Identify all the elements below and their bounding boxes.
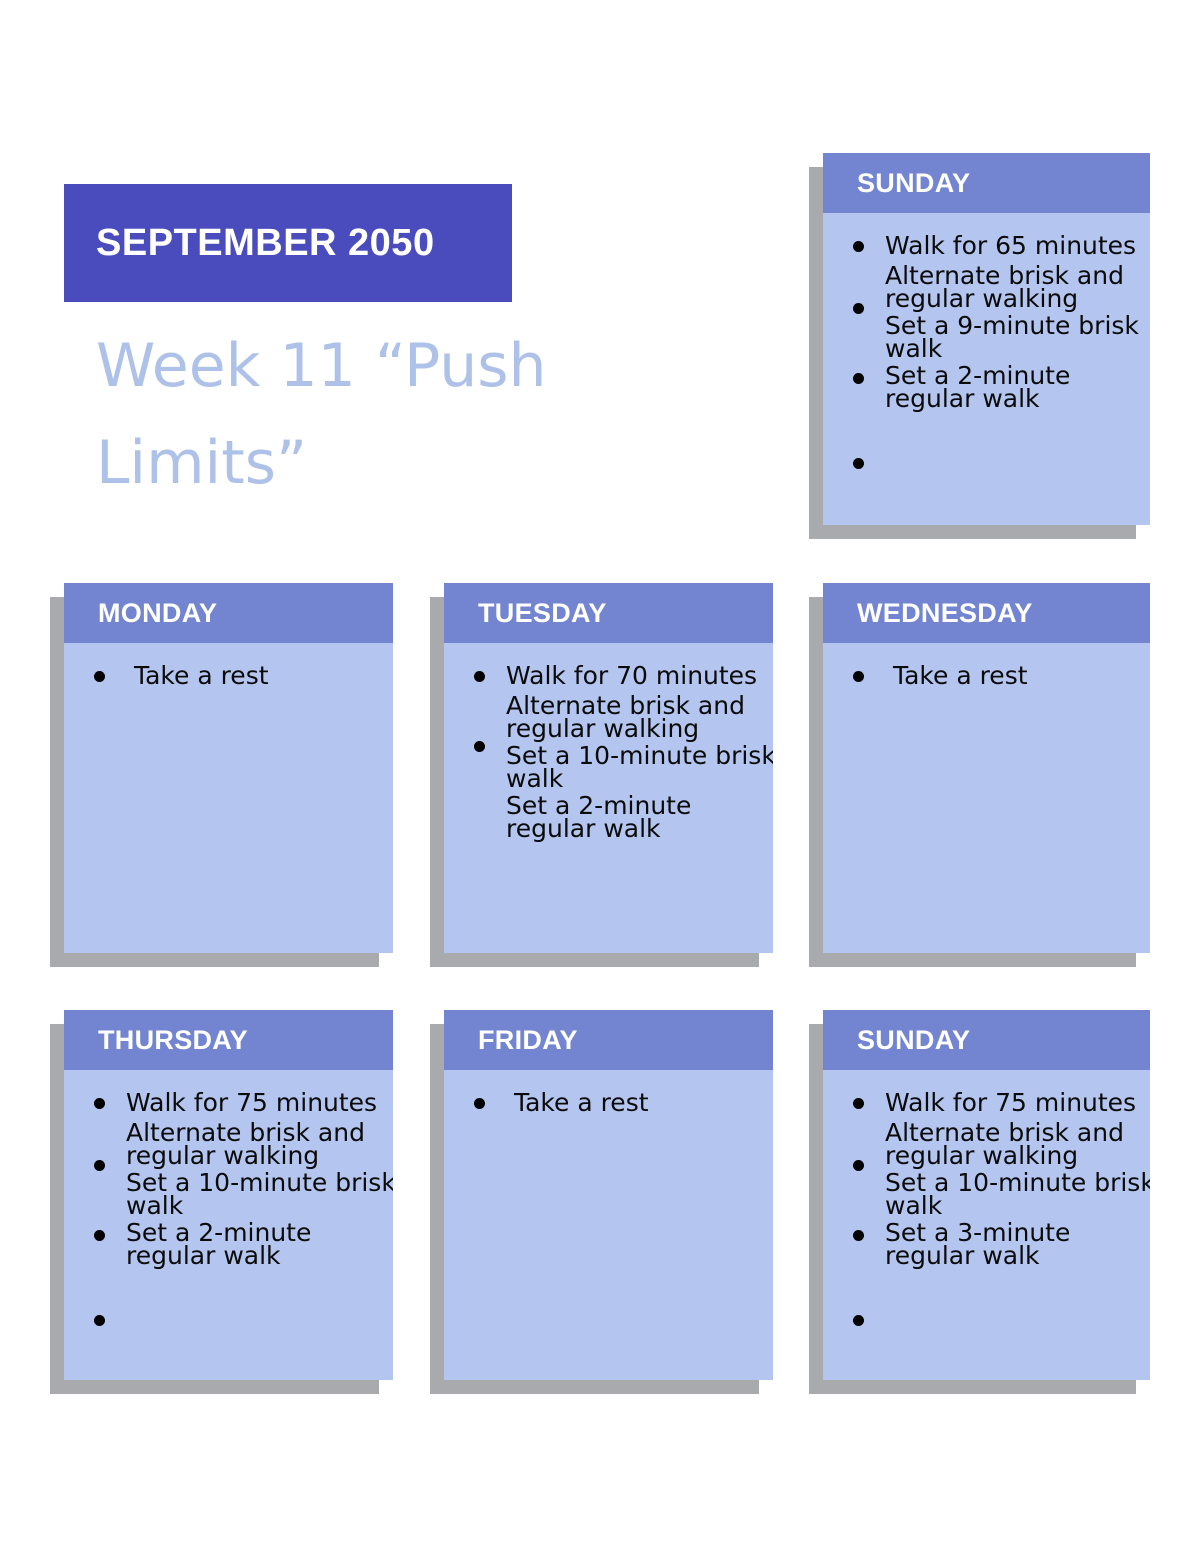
task-line: walk — [506, 764, 563, 793]
task-line: regular walking — [506, 714, 699, 743]
day-label: TUESDAY — [478, 598, 607, 629]
bullet-icon — [94, 1315, 105, 1326]
card-header: MONDAY — [64, 583, 393, 643]
bullet-icon — [474, 671, 485, 682]
task-line: Take a rest — [885, 661, 1028, 690]
task-line: Walk for 65 minutes — [885, 231, 1136, 260]
card-body: Take a rest — [64, 643, 393, 953]
bullet-icon — [474, 741, 485, 752]
card-header: THURSDAY — [64, 1010, 393, 1070]
day-label: THURSDAY — [98, 1025, 248, 1056]
bullet-icon — [853, 303, 864, 314]
card-body: Walk for 70 minutesAlternate brisk andre… — [444, 643, 773, 953]
card-body: Take a rest — [823, 643, 1150, 953]
task-line: Walk for 75 minutes — [126, 1088, 377, 1117]
bullet-icon — [853, 458, 864, 469]
card-inner: SUNDAY Walk for 75 minutesAlternate bris… — [823, 1010, 1150, 1380]
card-header: SUNDAY — [823, 1010, 1150, 1070]
task-line: Walk for 70 minutes — [506, 661, 757, 690]
bullet-icon — [474, 1098, 485, 1109]
task-line: regular walk — [885, 1241, 1040, 1270]
day-card-tuesday[interactable]: TUESDAY Walk for 70 minutesAlternate bri… — [444, 583, 773, 953]
task-line: Walk for 75 minutes — [885, 1088, 1136, 1117]
bullet-icon — [94, 1160, 105, 1171]
card-inner: WEDNESDAY Take a rest — [823, 583, 1150, 953]
day-label: SUNDAY — [857, 168, 970, 199]
card-body: Take a rest — [444, 1070, 773, 1380]
card-inner: MONDAY Take a rest — [64, 583, 393, 953]
card-header: WEDNESDAY — [823, 583, 1150, 643]
bullet-icon — [853, 1315, 864, 1326]
task-line: regular walk — [885, 384, 1040, 413]
day-label: WEDNESDAY — [857, 598, 1033, 629]
card-header: SUNDAY — [823, 153, 1150, 213]
card-body: Walk for 65 minutesAlternate brisk andre… — [823, 213, 1150, 525]
card-inner: TUESDAY Walk for 70 minutesAlternate bri… — [444, 583, 773, 953]
day-card-friday[interactable]: FRIDAY Take a rest — [444, 1010, 773, 1380]
bullet-icon — [853, 671, 864, 682]
task-line: walk — [126, 1191, 183, 1220]
day-label: SUNDAY — [857, 1025, 970, 1056]
day-card-sunday-bottom[interactable]: SUNDAY Walk for 75 minutesAlternate bris… — [823, 1010, 1150, 1380]
day-card-thursday[interactable]: THURSDAY Walk for 75 minutesAlternate br… — [64, 1010, 393, 1380]
bullet-icon — [94, 1230, 105, 1241]
task-line: regular walk — [126, 1241, 281, 1270]
day-card-wednesday[interactable]: WEDNESDAY Take a rest — [823, 583, 1150, 953]
card-inner: SUNDAY Walk for 65 minutesAlternate bris… — [823, 153, 1150, 525]
task-line: regular walking — [885, 284, 1078, 313]
bullet-icon — [853, 373, 864, 384]
bullet-icon — [94, 671, 105, 682]
task-line: walk — [885, 1191, 942, 1220]
task-line: regular walking — [885, 1141, 1078, 1170]
day-label: MONDAY — [98, 598, 217, 629]
task-line: walk — [885, 334, 942, 363]
month-label: SEPTEMBER 2050 — [96, 222, 435, 265]
month-banner: SEPTEMBER 2050 — [64, 184, 512, 302]
card-body: Walk for 75 minutesAlternate brisk andre… — [823, 1070, 1150, 1380]
card-header: TUESDAY — [444, 583, 773, 643]
bullet-icon — [853, 1160, 864, 1171]
planner-page: SEPTEMBER 2050 Week 11 “Push Limits” SUN… — [0, 0, 1200, 1552]
card-inner: FRIDAY Take a rest — [444, 1010, 773, 1380]
bullet-icon — [94, 1098, 105, 1109]
day-card-monday[interactable]: MONDAY Take a rest — [64, 583, 393, 953]
task-line: regular walking — [126, 1141, 319, 1170]
bullet-icon — [853, 1230, 864, 1241]
card-body: Walk for 75 minutesAlternate brisk andre… — [64, 1070, 393, 1380]
task-line: Take a rest — [126, 661, 269, 690]
bullet-icon — [853, 1098, 864, 1109]
day-card-sunday-top[interactable]: SUNDAY Walk for 65 minutesAlternate bris… — [823, 153, 1150, 525]
task-line: regular walk — [506, 814, 661, 843]
card-inner: THURSDAY Walk for 75 minutesAlternate br… — [64, 1010, 393, 1380]
week-title: Week 11 “Push Limits” — [96, 318, 616, 512]
day-label: FRIDAY — [478, 1025, 578, 1056]
card-header: FRIDAY — [444, 1010, 773, 1070]
bullet-icon — [853, 241, 864, 252]
task-line: Take a rest — [506, 1088, 649, 1117]
